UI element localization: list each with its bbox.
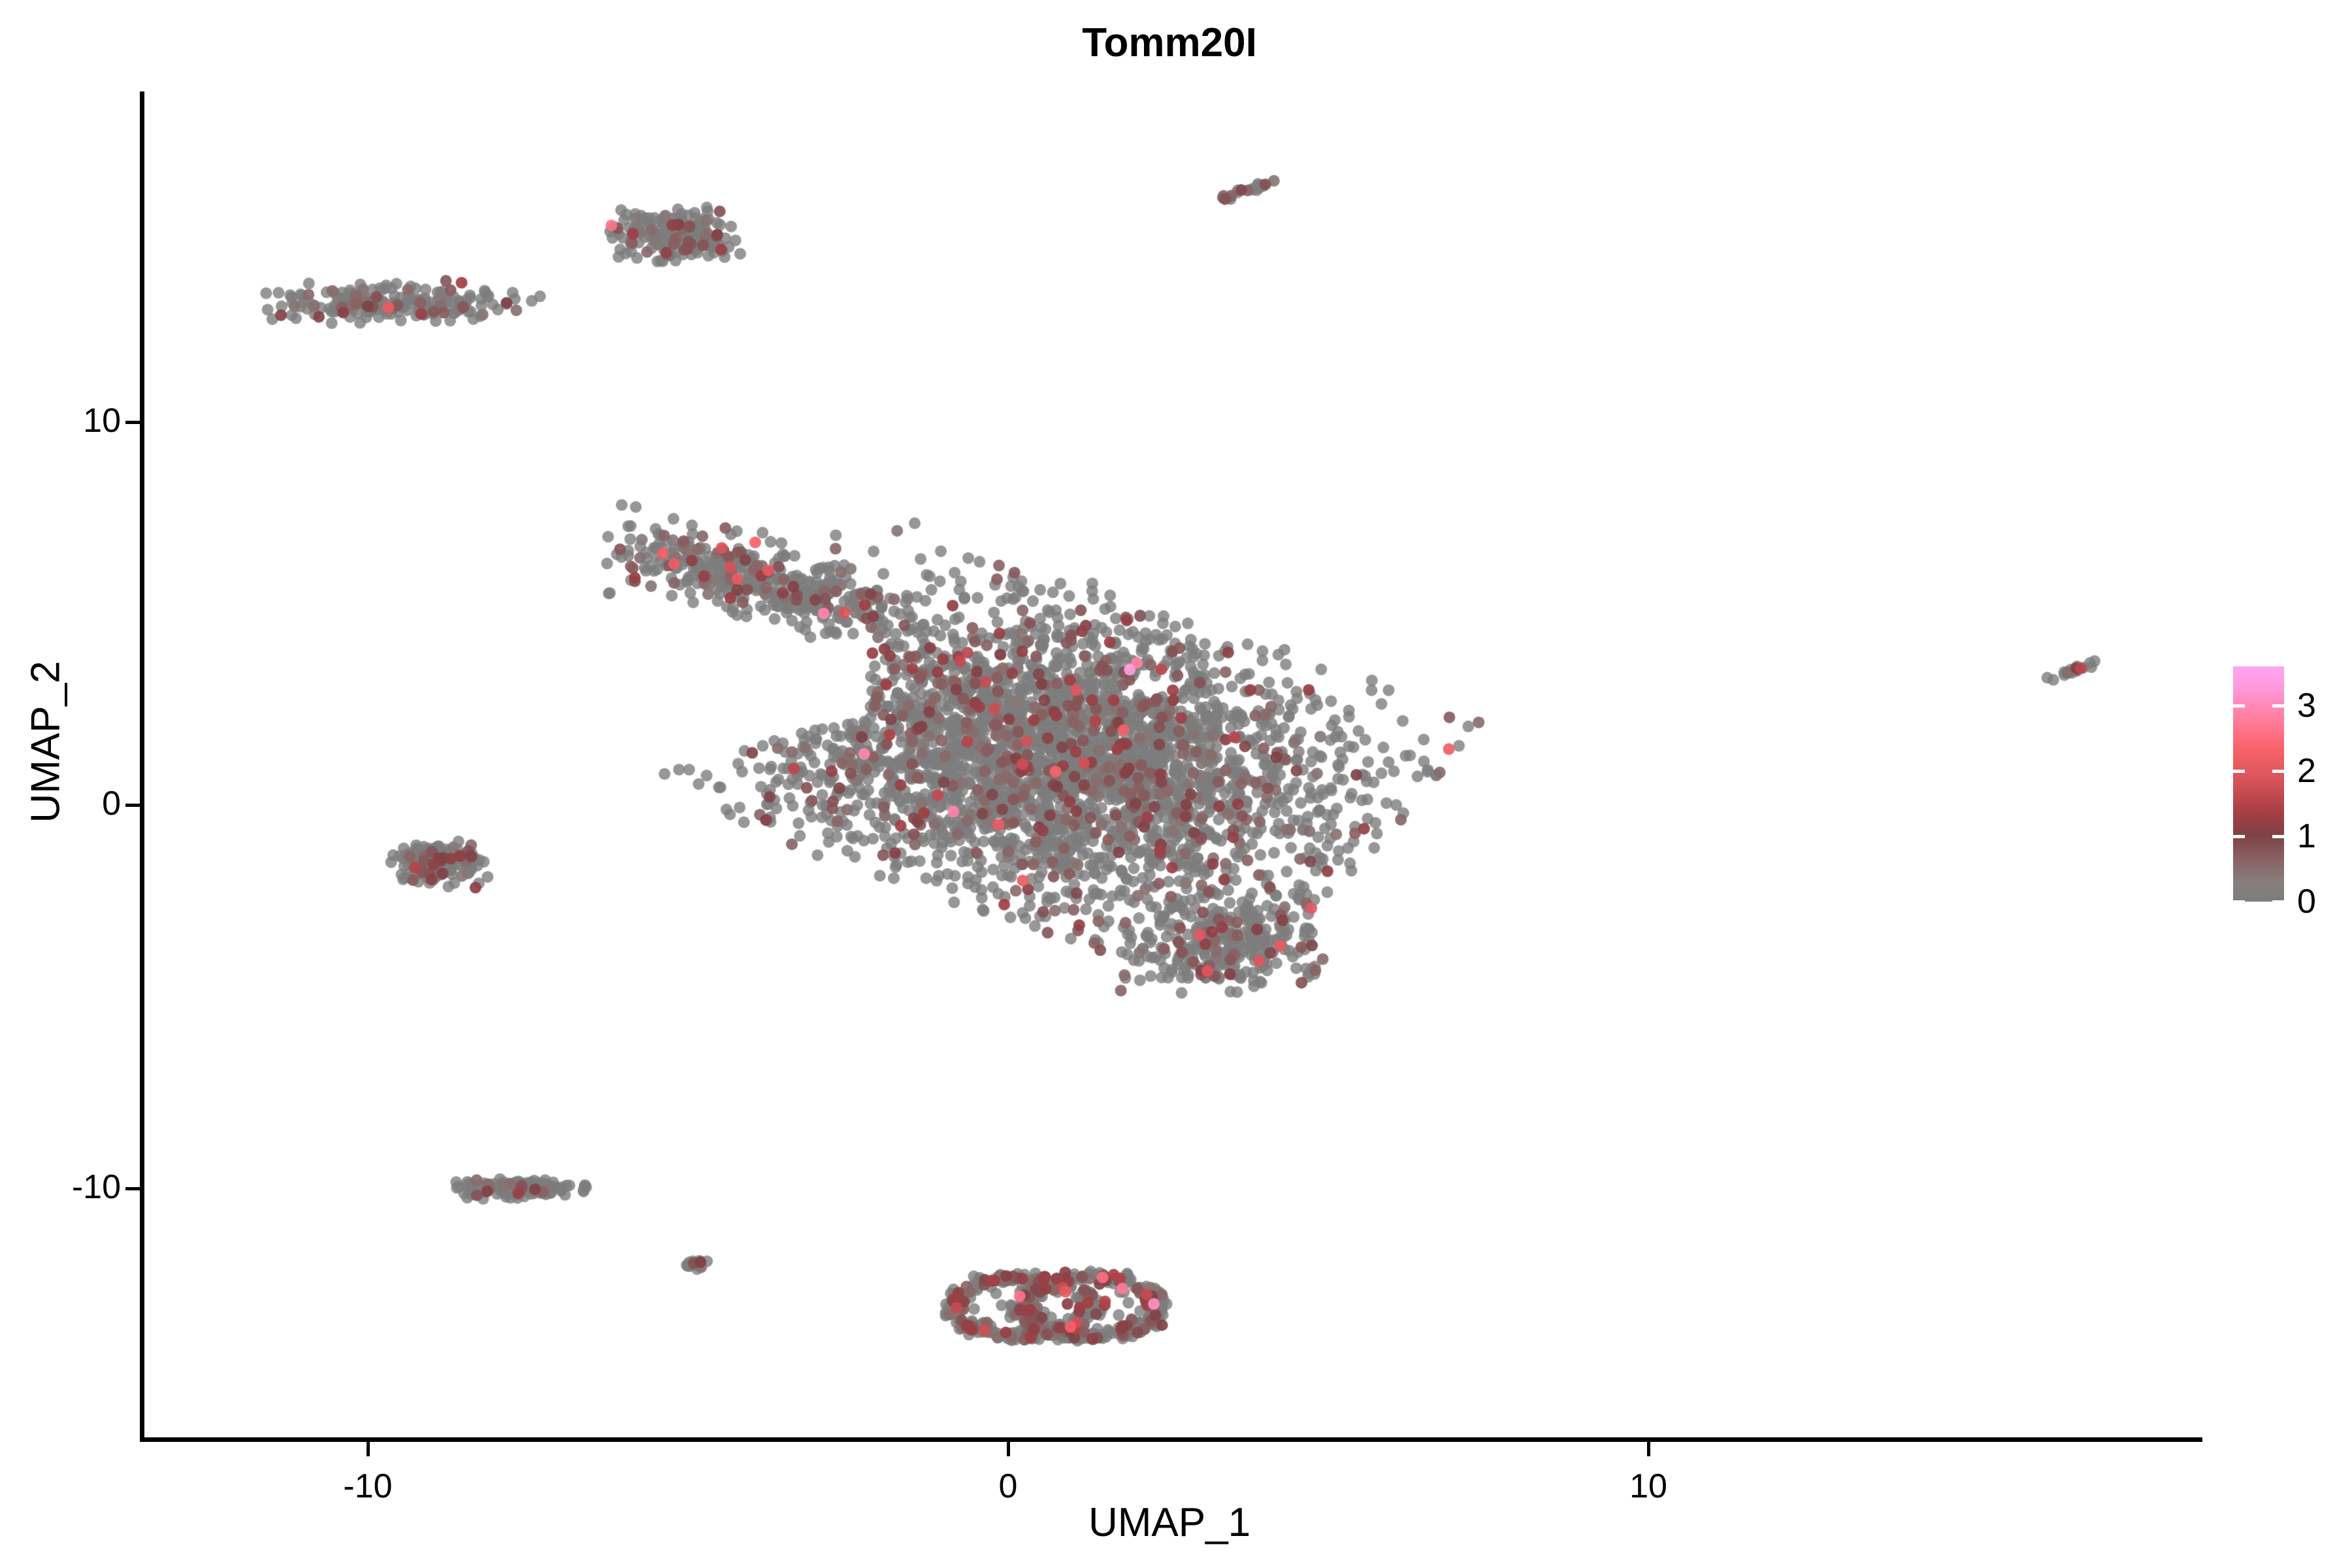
umap-feature-plot: Tomm20I -10010-10010 UMAP_1 UMAP_2 0123 (0, 0, 2352, 1568)
colorbar-tick-mark (2272, 770, 2284, 773)
plot-panel (144, 91, 2202, 1439)
colorbar-gradient (2233, 666, 2284, 902)
colorbar-tick-mark (2272, 704, 2284, 708)
y-tick-label: -10 (72, 1168, 121, 1207)
colorbar-legend: 0123 (2233, 661, 2344, 909)
y-tick-label: 0 (102, 784, 121, 823)
colorbar-tick-mark (2233, 770, 2245, 773)
colorbar-tick-mark (2233, 704, 2245, 708)
y-tick-mark (125, 1187, 140, 1190)
y-tick-mark (125, 421, 140, 424)
y-axis-line (140, 91, 144, 1442)
colorbar-tick-mark (2233, 835, 2245, 838)
x-tick-mark (1647, 1442, 1650, 1456)
colorbar-tick-label: 0 (2297, 882, 2316, 921)
scatter-points-canvas (144, 91, 2202, 1439)
colorbar-tick-label: 3 (2297, 686, 2316, 725)
colorbar-tick-label: 1 (2297, 817, 2316, 856)
colorbar-tick-mark (2233, 900, 2245, 904)
colorbar-tick-label: 2 (2297, 751, 2316, 791)
x-axis-title: UMAP_1 (0, 1499, 2339, 1546)
y-tick-label: 10 (83, 401, 121, 440)
x-tick-mark (367, 1442, 370, 1456)
x-tick-mark (1007, 1442, 1010, 1456)
y-axis-title: UMAP_2 (23, 546, 69, 938)
colorbar-tick-mark (2272, 900, 2284, 904)
x-axis-line (140, 1437, 2202, 1442)
y-tick-mark (125, 804, 140, 807)
colorbar-tick-mark (2272, 835, 2284, 838)
page-title: Tomm20I (0, 20, 2339, 66)
